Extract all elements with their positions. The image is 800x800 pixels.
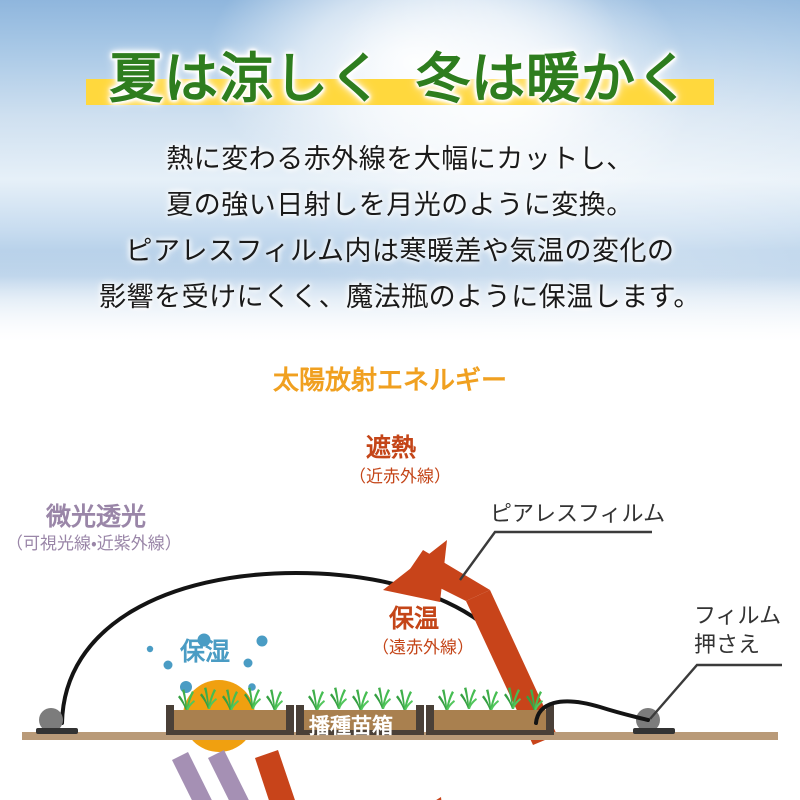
seed-box-label: 播種苗箱 <box>309 713 393 741</box>
body-copy-line-1: 熱に変わる赤外線を大幅にカットし、 <box>0 136 800 182</box>
headline-block: 夏は涼しく 冬は暖かく <box>0 48 800 110</box>
body-copy-line-4: 影響を受けにくく、魔法瓶のように保温します。 <box>0 274 800 320</box>
heat-retention-label: 保温 <box>389 605 439 633</box>
page-title: 夏は涼しく 冬は暖かく <box>0 48 800 110</box>
heat-shield-arrow <box>255 750 448 800</box>
film-clip-leader-line <box>650 665 782 719</box>
body-copy: 熱に変わる赤外線を大幅にカットし、 夏の強い日射しを月光のように変換。 ピアレス… <box>0 136 800 320</box>
film-leader-line <box>460 532 652 580</box>
heat-shield-label: 遮熱 <box>366 434 416 462</box>
body-copy-line-2: 夏の強い日射しを月光のように変換。 <box>0 182 800 228</box>
film-label: ピアレスフィルム <box>490 500 665 528</box>
body-copy-line-3: ピアレスフィルム内は寒暖差や気温の変化の <box>0 228 800 274</box>
film-clip-label-line2: 押さえ <box>694 631 760 659</box>
light-transmission-sublabel: （可視光線・近紫外線） <box>6 533 182 554</box>
humidity-label: 保湿 <box>180 638 230 666</box>
heat-retention-sublabel: （遠赤外線） <box>372 637 474 658</box>
film-clip-label-line1: フィルム <box>694 602 781 630</box>
film-weight-right <box>633 708 675 734</box>
light-transmission-label: 微光透光 <box>46 503 146 531</box>
film-weight-left <box>36 708 78 734</box>
greenhouse-diagram: 太陽放射エネルギー 微光透光 （可視光線・近紫外線） 遮熱 （近赤外線） 保温 … <box>0 335 800 800</box>
heat-shield-sublabel: （近赤外線） <box>349 466 451 487</box>
solar-energy-label: 太陽放射エネルギー <box>273 366 507 394</box>
infographic-page: 夏は涼しく 冬は暖かく 熱に変わる赤外線を大幅にカットし、 夏の強い日射しを月光… <box>0 0 800 800</box>
